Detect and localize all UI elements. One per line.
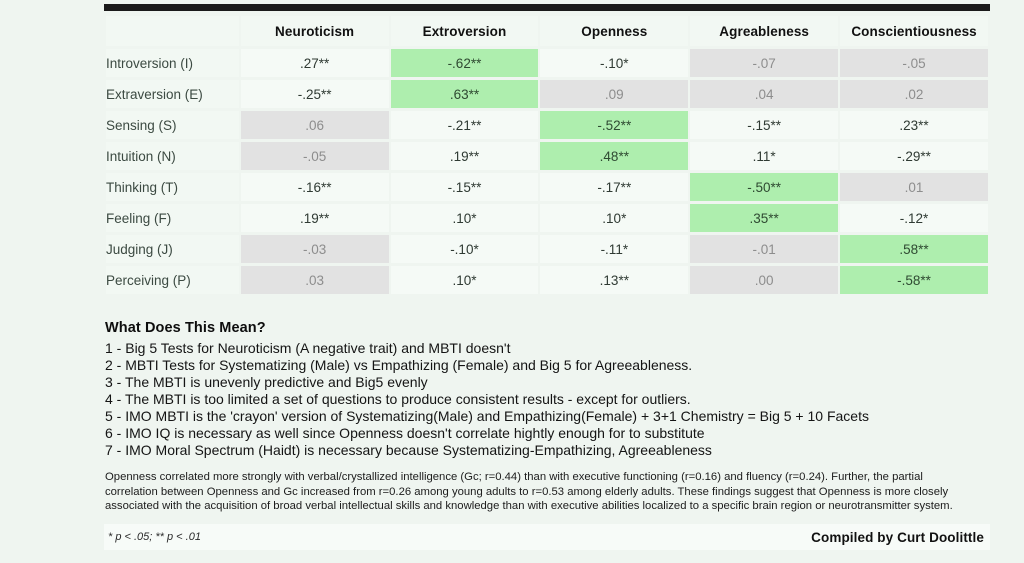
- correlation-cell: -.07: [690, 49, 838, 77]
- correlation-cell: .63**: [391, 80, 539, 108]
- table-body: Introversion (I).27**-.62**-.10*-.07-.05…: [106, 49, 988, 294]
- notes-section: What Does This Mean? 1 - Big 5 Tests for…: [105, 320, 1005, 459]
- correlation-table: Neuroticism Extroversion Openness Agreab…: [104, 13, 990, 297]
- correlation-cell: .10*: [540, 204, 688, 232]
- correlation-cell: .03: [241, 266, 389, 294]
- column-header-conscientiousness: Conscientiousness: [840, 16, 988, 46]
- openness-research-paragraph: Openness correlated more strongly with v…: [105, 470, 977, 514]
- correlation-cell: -.03: [241, 235, 389, 263]
- correlation-cell: .19**: [241, 204, 389, 232]
- correlation-cell: -.12*: [840, 204, 988, 232]
- notes-heading: What Does This Mean?: [105, 320, 1005, 336]
- row-label: Sensing (S): [106, 111, 239, 139]
- note-item: 6 - IMO IQ is necessary as well since Op…: [105, 425, 1005, 442]
- correlation-cell: .23**: [840, 111, 988, 139]
- correlation-cell: .27**: [241, 49, 389, 77]
- row-label: Intuition (N): [106, 142, 239, 170]
- correlation-cell: -.01: [690, 235, 838, 263]
- table-row: Feeling (F).19**.10*.10*.35**-.12*: [106, 204, 988, 232]
- note-item: 5 - IMO MBTI is the 'crayon' version of …: [105, 408, 1005, 425]
- note-item: 3 - The MBTI is unevenly predictive and …: [105, 374, 1005, 391]
- table-top-rule: [104, 4, 990, 11]
- table-header-row: Neuroticism Extroversion Openness Agreab…: [106, 16, 988, 46]
- note-item: 1 - Big 5 Tests for Neuroticism (A negat…: [105, 340, 1005, 357]
- row-label: Thinking (T): [106, 173, 239, 201]
- table-row: Thinking (T)-.16**-.15**-.17**-.50**.01: [106, 173, 988, 201]
- correlation-cell: -.62**: [391, 49, 539, 77]
- correlation-cell: -.10*: [391, 235, 539, 263]
- infographic-page: Neuroticism Extroversion Openness Agreab…: [0, 0, 1024, 563]
- column-header-agreableness: Agreableness: [690, 16, 838, 46]
- table-row: Introversion (I).27**-.62**-.10*-.07-.05: [106, 49, 988, 77]
- row-label: Introversion (I): [106, 49, 239, 77]
- correlation-cell: .01: [840, 173, 988, 201]
- note-item: 7 - IMO Moral Spectrum (Haidt) is necess…: [105, 442, 1005, 459]
- correlation-cell: .10*: [391, 266, 539, 294]
- correlation-cell: .10*: [391, 204, 539, 232]
- correlation-cell: -.15**: [690, 111, 838, 139]
- correlation-cell: .58**: [840, 235, 988, 263]
- table-row: Extraversion (E)-.25**.63**.09.04.02: [106, 80, 988, 108]
- table-row: Perceiving (P).03.10*.13**.00-.58**: [106, 266, 988, 294]
- column-header-neuroticism: Neuroticism: [241, 16, 389, 46]
- correlation-cell: -.52**: [540, 111, 688, 139]
- row-label: Perceiving (P): [106, 266, 239, 294]
- correlation-cell: .11*: [690, 142, 838, 170]
- correlation-cell: -.05: [241, 142, 389, 170]
- correlation-cell: -.29**: [840, 142, 988, 170]
- notes-list: 1 - Big 5 Tests for Neuroticism (A negat…: [105, 340, 1005, 459]
- correlation-cell: .04: [690, 80, 838, 108]
- correlation-cell: -.58**: [840, 266, 988, 294]
- significance-note: * p < .05; ** p < .01: [108, 531, 201, 543]
- correlation-table-container: Neuroticism Extroversion Openness Agreab…: [104, 4, 990, 297]
- correlation-cell: .06: [241, 111, 389, 139]
- table-row: Intuition (N)-.05.19**.48**.11*-.29**: [106, 142, 988, 170]
- correlation-cell: -.21**: [391, 111, 539, 139]
- correlation-cell: -.16**: [241, 173, 389, 201]
- table-row: Judging (J)-.03-.10*-.11*-.01.58**: [106, 235, 988, 263]
- note-item: 4 - The MBTI is too limited a set of que…: [105, 391, 1005, 408]
- correlation-cell: .13**: [540, 266, 688, 294]
- table-header: Neuroticism Extroversion Openness Agreab…: [106, 16, 988, 46]
- correlation-cell: .00: [690, 266, 838, 294]
- correlation-cell: -.25**: [241, 80, 389, 108]
- note-item: 2 - MBTI Tests for Systematizing (Male) …: [105, 357, 1005, 374]
- correlation-cell: .02: [840, 80, 988, 108]
- row-label: Judging (J): [106, 235, 239, 263]
- correlation-cell: -.50**: [690, 173, 838, 201]
- correlation-cell: .35**: [690, 204, 838, 232]
- correlation-cell: -.10*: [540, 49, 688, 77]
- row-label: Feeling (F): [106, 204, 239, 232]
- compiled-by-credit: Compiled by Curt Doolittle: [811, 530, 984, 545]
- correlation-cell: -.05: [840, 49, 988, 77]
- correlation-cell: -.17**: [540, 173, 688, 201]
- column-header-extroversion: Extroversion: [391, 16, 539, 46]
- correlation-cell: -.15**: [391, 173, 539, 201]
- correlation-cell: -.11*: [540, 235, 688, 263]
- correlation-cell: .09: [540, 80, 688, 108]
- correlation-cell: .48**: [540, 142, 688, 170]
- row-label: Extraversion (E): [106, 80, 239, 108]
- table-corner-cell: [106, 16, 239, 46]
- column-header-openness: Openness: [540, 16, 688, 46]
- table-row: Sensing (S).06-.21**-.52**-.15**.23**: [106, 111, 988, 139]
- correlation-cell: .19**: [391, 142, 539, 170]
- table-footer: * p < .05; ** p < .01 Compiled by Curt D…: [104, 524, 990, 550]
